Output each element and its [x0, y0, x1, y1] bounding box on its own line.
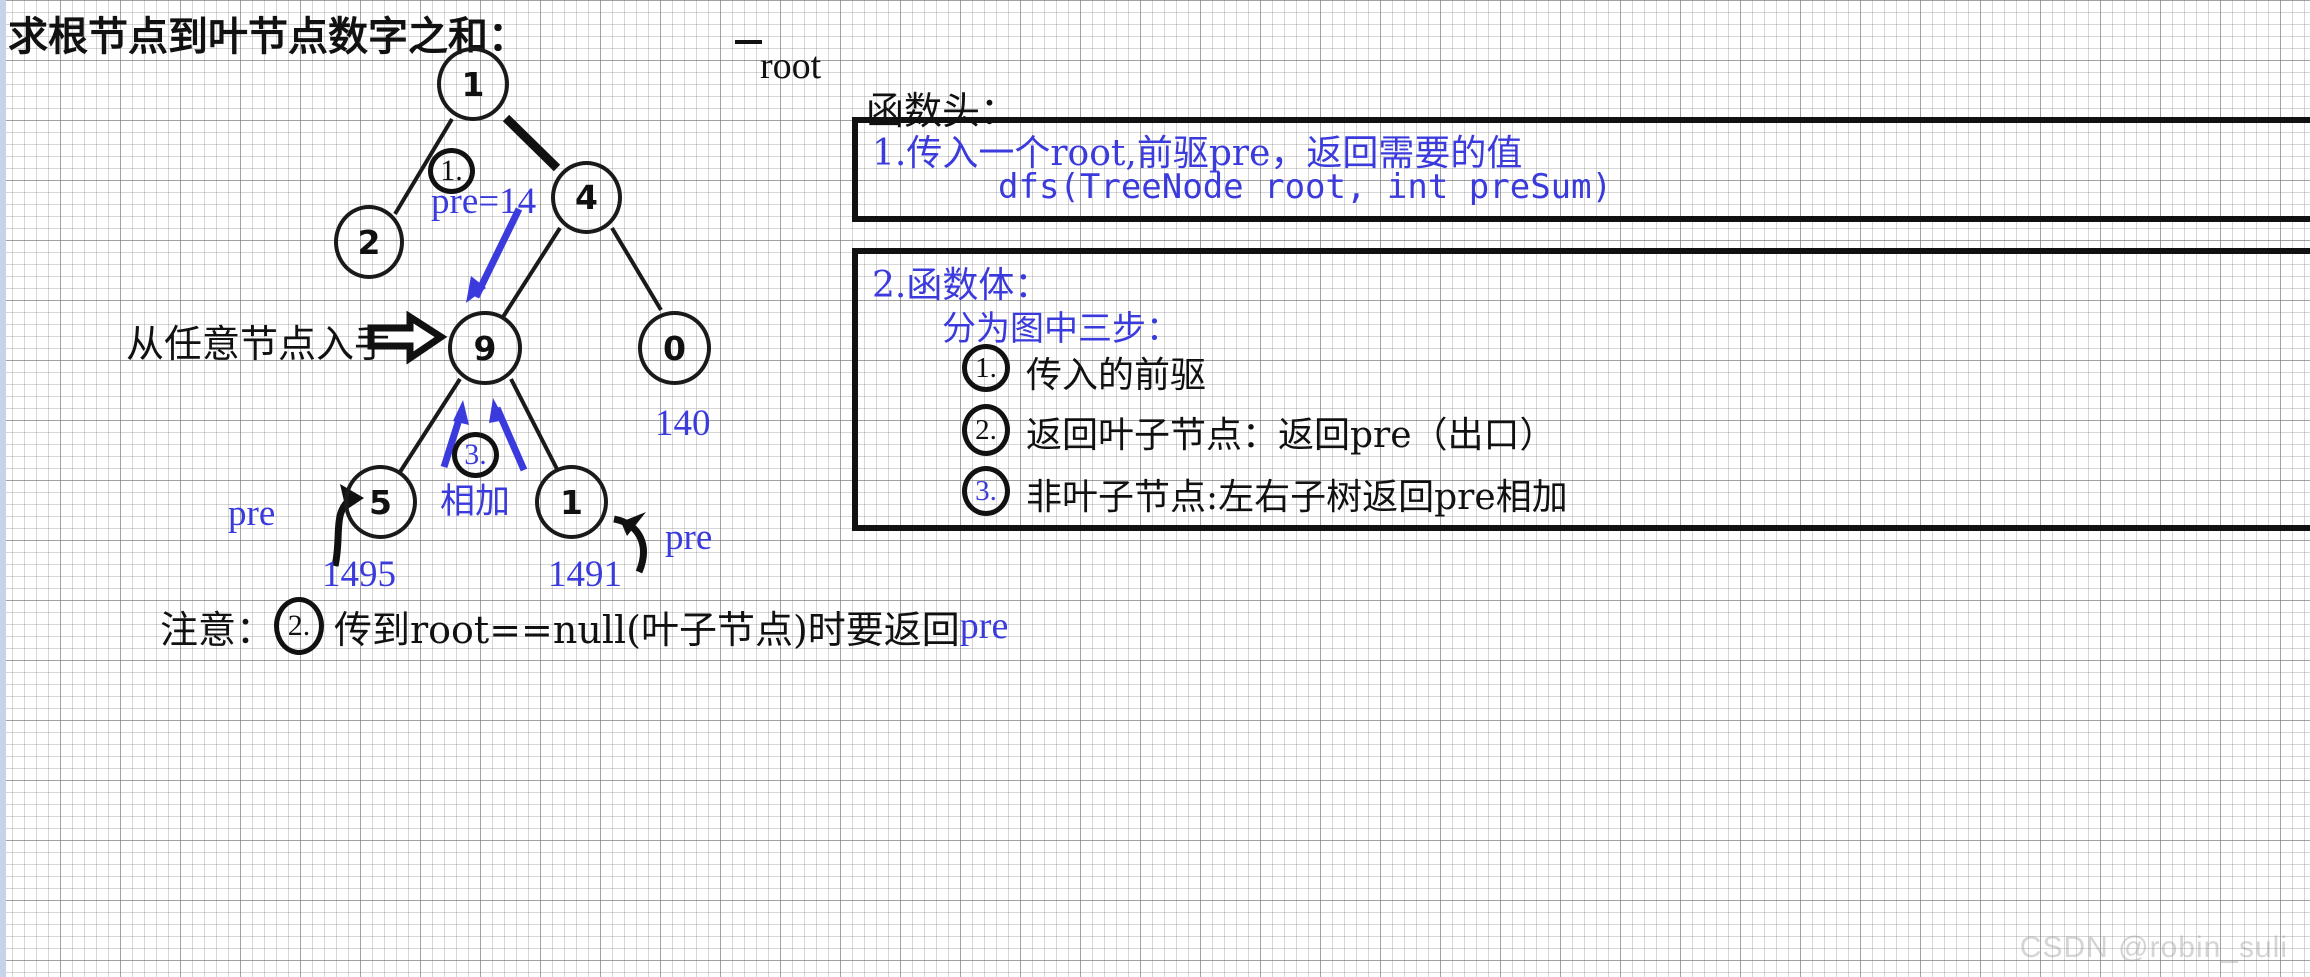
annotation-xiangjia: 相加 [440, 473, 510, 524]
page-title: 求根节点到叶节点数字之和： [8, 4, 528, 62]
tree-node-value: 0 [663, 329, 686, 368]
footer-note-prefix: 注意： [160, 599, 274, 654]
tree-node-value: 4 [575, 178, 598, 217]
function-header-box: 1.传入一个root,前驱pre，返回需要的值 dfs(TreeNode roo… [852, 117, 2310, 222]
body-item-marker-3: 3. [962, 466, 1010, 516]
function-body-subheading: 分为图中三步： [942, 301, 1180, 350]
annotation-pre-right: pre [665, 516, 712, 559]
tree-node-value: 9 [474, 329, 497, 368]
paper-margin-rule [0, 0, 6, 977]
tree-node-9[interactable]: 9 [448, 311, 522, 385]
body-item-text-1: 传入的前驱 [1026, 346, 1206, 398]
footer-note-text: 传到root==null(叶子节点)时要返回 [334, 599, 960, 654]
watermark: CSDN @robin_suli [2020, 931, 2288, 965]
tree-node-1-leaf[interactable]: 1 [535, 465, 608, 539]
annotation-pre-eq-14: pre=14 [431, 180, 536, 223]
tree-node-value: 1 [560, 483, 583, 522]
footer-note-text-pre: pre [960, 604, 1009, 648]
tree-node-4[interactable]: 4 [551, 161, 622, 234]
annotation-value-140: 140 [655, 402, 711, 445]
body-item-text-3: 非叶子节点:左右子树返回pre相加 [1026, 468, 1568, 520]
step-marker-text: 3. [464, 438, 487, 472]
tree-node-value: 5 [369, 483, 392, 522]
body-item-marker-1: 1. [962, 344, 1010, 392]
annotation-value-1491: 1491 [548, 553, 622, 596]
label-start-anywhere: 从任意节点入手 [126, 313, 392, 368]
tree-node-value: 2 [358, 223, 381, 262]
tree-node-0[interactable]: 0 [638, 311, 711, 385]
body-item-marker-text: 2. [975, 414, 997, 447]
notebook-page: 求根节点到叶节点数字之和： [0, 0, 2310, 977]
function-signature: dfs(TreeNode root, int preSum) [998, 167, 1612, 207]
body-item-text-2: 返回叶子节点：返回pre（出口） [1026, 406, 1556, 458]
function-body-box: 2.函数体： 分为图中三步： 1. 传入的前驱 2. 返回叶子节点：返回pre（… [852, 248, 2310, 531]
annotation-pre-left: pre [228, 492, 275, 535]
body-item-marker-text: 3. [975, 475, 997, 508]
tree-node-5[interactable]: 5 [344, 465, 417, 539]
footer-note: 注意： 2. 传到root==null(叶子节点)时要返回 pre [160, 597, 1008, 655]
body-item-marker-2: 2. [962, 404, 1010, 456]
annotation-value-1495: 1495 [322, 553, 396, 596]
tree-node-root[interactable]: 1 [437, 47, 509, 121]
footer-note-marker-text: 2. [288, 609, 311, 643]
footer-note-marker: 2. [274, 597, 324, 655]
body-item-marker-text: 1. [975, 352, 997, 385]
tree-node-2[interactable]: 2 [334, 205, 404, 279]
tree-node-value: 1 [462, 65, 485, 104]
root-label: root [760, 44, 821, 88]
step-marker-3-tree: 3. [452, 432, 499, 478]
